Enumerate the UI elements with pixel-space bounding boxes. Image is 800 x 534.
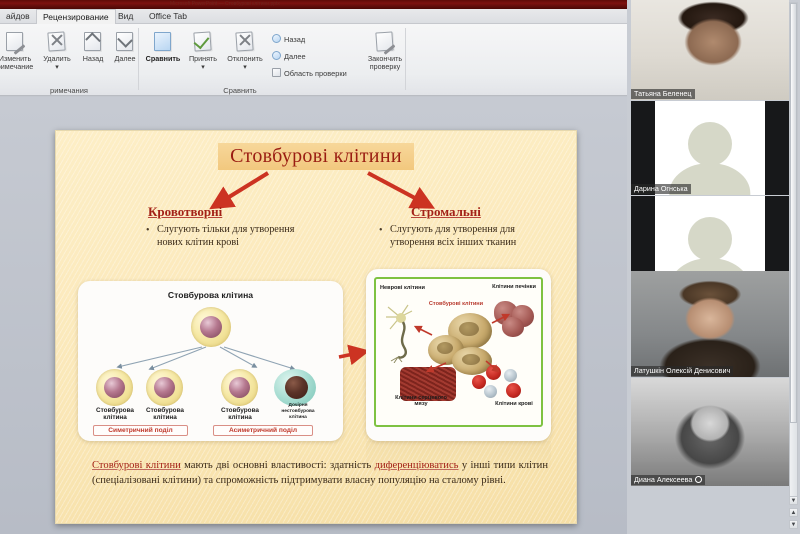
participant-video-feed	[631, 378, 789, 486]
cell-division-diagram-card[interactable]: Стовбурова клітина	[78, 281, 343, 441]
cell-label-4: Дочірня нестовбурова клітина	[276, 403, 320, 420]
slide-paragraph: Стовбурові клітини мають дві основні вла…	[92, 459, 548, 488]
forward-command[interactable]: Далее	[272, 51, 306, 62]
participant-name-1: Дарина Огнська	[631, 184, 691, 194]
title-branch-arrows	[56, 169, 577, 217]
previous-comment-icon	[80, 30, 106, 54]
next-comment-button[interactable]: Далее	[108, 30, 142, 63]
forward-arrow-icon	[272, 51, 281, 60]
tissue-arrows	[376, 279, 543, 427]
slide-canvas[interactable]: Стовбурові клітини Кровотворні •	[55, 130, 577, 524]
scroll-end-button[interactable]: ▼	[789, 520, 798, 529]
accept-button[interactable]: Принять ▾	[182, 30, 224, 71]
review-pane-command[interactable]: Область проверки	[272, 68, 347, 79]
asymmetric-division-tag: Асиметричний поділ	[213, 425, 313, 436]
paragraph-link-stem-cells: Стовбурові клітини	[92, 460, 181, 471]
cell-label-1: Стовбурова клітина	[88, 407, 142, 422]
ribbon-group-compare-label: Сравнить	[140, 86, 340, 95]
ribbon-group-compare: Сравнить Принять ▾ Отклонить ▾	[140, 24, 405, 96]
nucleus	[285, 376, 308, 399]
paragraph-segment-1: мають дві основні властивості: здатність	[181, 460, 375, 471]
ribbon-body: Изменить римечание Удалить ▾ Назад	[0, 24, 627, 96]
non-stem-daughter-cell	[274, 369, 316, 406]
cell-label-2: Стовбурова клітина	[138, 407, 192, 422]
participant-tile-4[interactable]: Диана Алексеева	[631, 378, 789, 486]
paragraph-link-differentiate: диференціюватись	[375, 460, 459, 471]
participant-tile-3[interactable]: Латушкін Олексій Денисович	[631, 271, 789, 377]
tab-view[interactable]: Вид	[112, 9, 139, 24]
avatar-placeholder	[655, 101, 765, 195]
tab-office-tab[interactable]: Office Tab	[143, 9, 193, 24]
avatar-head-icon	[688, 217, 732, 261]
reject-icon	[232, 30, 258, 54]
cell-label-3: Стовбурова клітина	[213, 407, 267, 422]
avatar-head-icon	[688, 122, 732, 166]
end-review-button[interactable]: Закончить проверку	[362, 30, 408, 71]
branch-text-hematopoietic: • Слугують тільки для утворення нових кл…	[146, 223, 321, 249]
screen-root: Microsoft PowerPoint — Стовбурові клітин…	[0, 0, 800, 534]
back-command[interactable]: Назад	[272, 34, 305, 45]
participant-video-feed	[631, 0, 789, 100]
ribbon-tab-strip: айдов Рецензирование Вид Office Tab	[0, 9, 627, 24]
window-titlebar: Microsoft PowerPoint — Стовбурові клітин…	[0, 0, 627, 9]
ribbon-group-comments-label: римечания	[0, 86, 138, 95]
slide-title[interactable]: Стовбурові клітини	[218, 143, 414, 170]
end-review-icon	[372, 30, 398, 54]
branch-heading-stromal: Стромальні	[411, 204, 481, 220]
scrollbar-thumb[interactable]	[790, 3, 797, 423]
edit-comment-icon	[2, 30, 28, 54]
tissue-diagram-frame: Неврові клітини Стовбурові клітини	[374, 277, 543, 427]
stem-cell-1	[96, 369, 133, 406]
back-arrow-icon	[272, 34, 281, 43]
branch-heading-hematopoietic: Кровотворні	[148, 204, 222, 220]
slide-workspace[interactable]: Стовбурові клітини Кровотворні •	[0, 97, 627, 534]
participant-name-4: Диана Алексеева	[631, 475, 705, 485]
branch-text-stromal: • Слугують для утворення для утворення в…	[379, 223, 559, 249]
slide-title-container: Стовбурові клітини	[56, 143, 576, 170]
nucleus	[104, 377, 125, 398]
powerpoint-window: Microsoft PowerPoint — Стовбурові клітин…	[0, 0, 627, 534]
bullet-marker: •	[146, 224, 150, 237]
nucleus	[229, 377, 250, 398]
mic-status-icon	[695, 476, 702, 483]
participant-name-3: Латушкін Олексій Денисович	[631, 366, 733, 376]
tab-review[interactable]: Рецензирование	[36, 9, 116, 24]
change-comment-button[interactable]: Изменить римечание	[0, 30, 36, 71]
window-title: Microsoft PowerPoint — Стовбурові клітин…	[0, 0, 627, 9]
stem-cell-3	[221, 369, 258, 406]
delete-comment-icon	[44, 30, 70, 54]
accept-icon	[190, 30, 216, 54]
participant-name-0: Татьяна Беленец	[631, 89, 695, 99]
delete-comment-button[interactable]: Удалить ▾	[36, 30, 78, 71]
next-comment-icon	[112, 30, 138, 54]
ribbon-group-divider-2	[405, 28, 406, 90]
participant-video-feed	[631, 271, 789, 377]
participant-name-4-text: Диана Алексеева	[634, 475, 692, 484]
tissue-differentiation-card[interactable]: Неврові клітини Стовбурові клітини	[366, 269, 551, 441]
compare-button[interactable]: Сравнить	[142, 30, 184, 63]
stem-cell-2	[146, 369, 183, 406]
symmetric-division-tag: Симетричний поділ	[93, 425, 188, 436]
review-pane-icon	[272, 68, 281, 77]
scroll-up-button[interactable]: ▲	[789, 508, 798, 517]
scroll-down-button[interactable]: ▼	[789, 496, 798, 505]
participants-scrollbar[interactable]	[789, 2, 798, 502]
reject-button[interactable]: Отклонить ▾	[224, 30, 266, 71]
bullet-marker: •	[379, 224, 383, 237]
nucleus	[154, 377, 175, 398]
ribbon-group-divider-1	[138, 28, 139, 90]
previous-comment-button[interactable]: Назад	[76, 30, 110, 63]
participant-tile-1[interactable]: Дарина Огнська	[631, 101, 789, 195]
video-conference-panel: Татьяна Беленец Дарина Огнська Руслана М…	[627, 0, 800, 534]
participant-tile-0[interactable]: Татьяна Беленец	[631, 0, 789, 100]
compare-icon	[150, 30, 176, 54]
ribbon-group-comments: Изменить римечание Удалить ▾ Назад	[0, 24, 138, 96]
tab-slides[interactable]: айдов	[0, 9, 36, 24]
